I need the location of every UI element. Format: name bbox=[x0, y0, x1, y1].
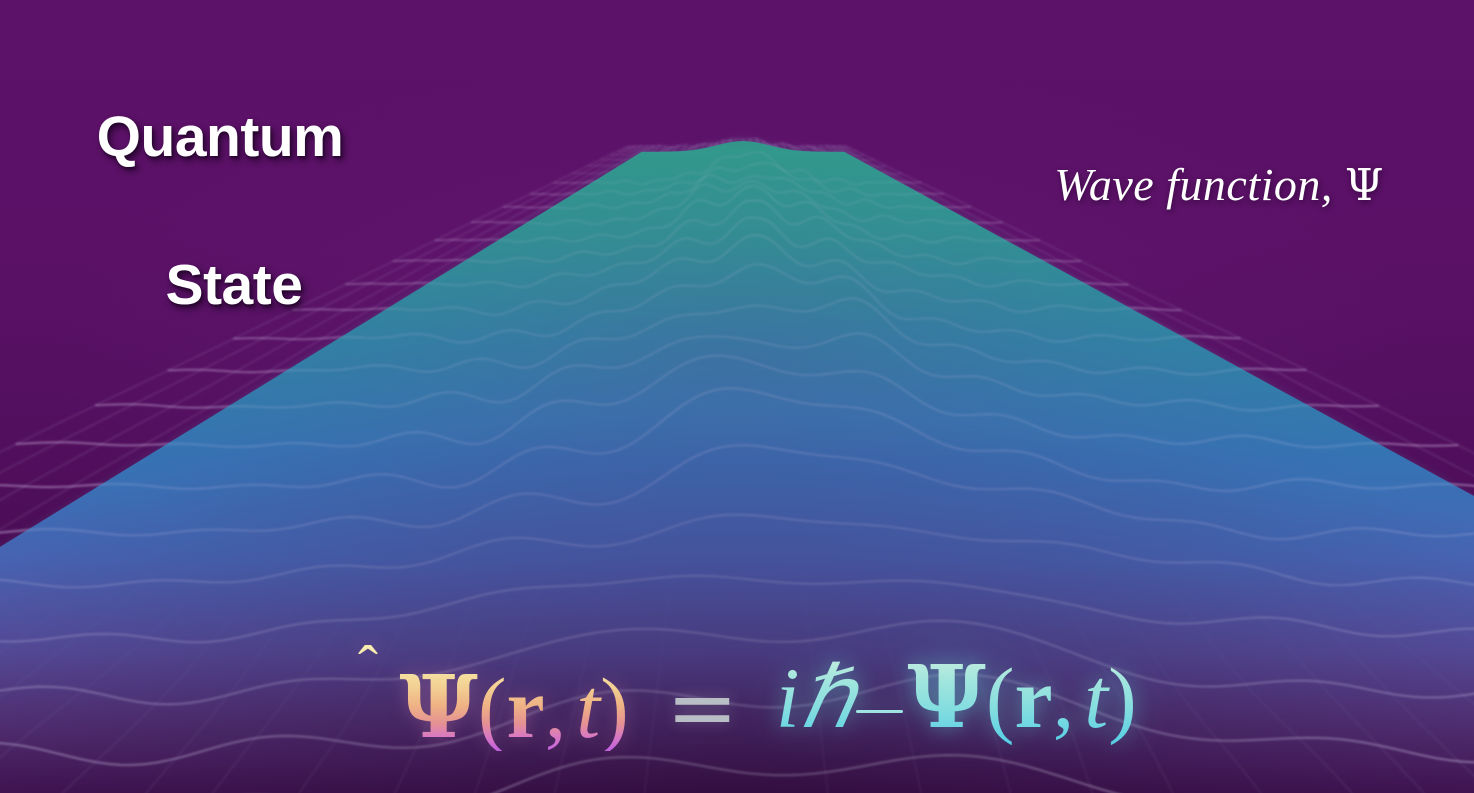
slide-canvas: Quantum State Wave function, Ψ ˆHΨ(r,t) … bbox=[0, 0, 1474, 793]
lhs-position-r: r bbox=[507, 660, 545, 756]
equals-sign: = bbox=[666, 665, 738, 751]
equation-right-side: iℏ∂∂tΨ(r,t) bbox=[776, 650, 1137, 765]
rhs-comma: , bbox=[1053, 650, 1075, 746]
rhs-time-t: t bbox=[1084, 650, 1108, 746]
title-line-2: State bbox=[72, 248, 396, 322]
psi-symbol: Ψ bbox=[1345, 160, 1384, 211]
lhs-close-paren: ) bbox=[600, 660, 629, 756]
equation-left-side: ˆHΨ(r,t) bbox=[337, 665, 629, 751]
imaginary-unit-i: i bbox=[776, 650, 800, 746]
rhs-close-paren: ) bbox=[1108, 650, 1137, 746]
page-title: Quantum State bbox=[66, 26, 396, 396]
wavefunction-label-text: Wave function, bbox=[1054, 159, 1345, 210]
fraction-denominator: ∂t bbox=[856, 714, 903, 768]
lhs-comma: , bbox=[545, 660, 567, 756]
hamiltonian-operator: ˆH bbox=[337, 665, 399, 751]
lhs-open-paren: ( bbox=[478, 660, 507, 756]
schrodinger-equation: ˆHΨ(r,t) = iℏ∂∂tΨ(r,t) bbox=[0, 650, 1474, 765]
partial-derivative-fraction: ∂∂t bbox=[856, 653, 903, 768]
lhs-time-t: t bbox=[576, 660, 600, 756]
lhs-psi: Ψ bbox=[399, 657, 478, 758]
hat-accent-icon: ˆ bbox=[358, 638, 378, 698]
rhs-position-r: r bbox=[1015, 650, 1053, 746]
title-line-1: Quantum bbox=[44, 100, 396, 174]
fraction-numerator: ∂ bbox=[856, 653, 903, 707]
rhs-open-paren: ( bbox=[986, 650, 1015, 746]
wavefunction-label: Wave function, Ψ bbox=[1054, 158, 1384, 211]
hbar-symbol: ℏ bbox=[800, 650, 855, 746]
rhs-psi: Ψ bbox=[907, 647, 986, 748]
